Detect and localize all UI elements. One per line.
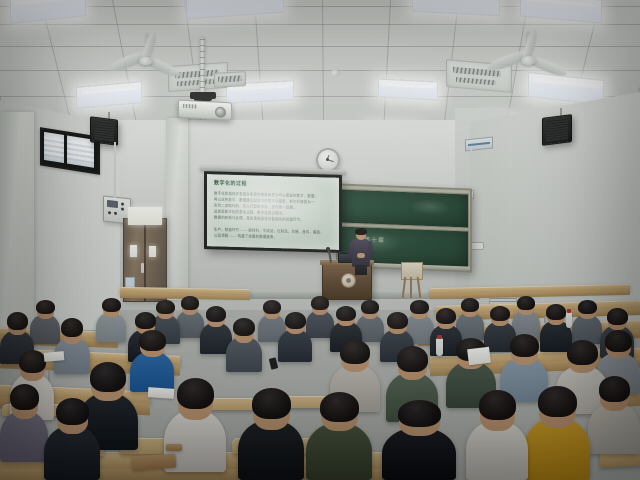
person-hair <box>177 378 214 409</box>
student <box>238 388 304 480</box>
person-hair <box>461 298 479 312</box>
person-hair <box>599 376 630 402</box>
person-hair <box>567 340 598 365</box>
person-hair <box>510 334 539 357</box>
person-hair <box>578 300 597 314</box>
person-hair <box>398 400 441 427</box>
person-hair <box>135 312 156 329</box>
person-hair <box>320 392 359 422</box>
water-bottle <box>436 338 443 356</box>
wooden-block-small <box>166 444 182 451</box>
water-bottle <box>566 312 572 328</box>
student <box>278 312 312 362</box>
person-hair <box>285 312 306 329</box>
person-hair <box>206 306 226 322</box>
person-hair <box>252 388 291 419</box>
person-hair <box>340 340 370 364</box>
person-hair <box>19 350 46 373</box>
person-hair <box>181 296 199 310</box>
person-hair <box>336 306 356 321</box>
open-notebook <box>467 347 491 366</box>
person-hair <box>61 318 83 337</box>
person-hair <box>56 398 89 425</box>
paper-sheet <box>44 351 65 362</box>
person-hair <box>102 298 121 312</box>
person-hair <box>139 330 166 351</box>
person-hair <box>436 308 456 324</box>
person-hair <box>10 384 39 410</box>
person-hair <box>605 330 632 352</box>
person-hair <box>36 300 55 314</box>
person-hair <box>361 300 379 314</box>
person-hair <box>517 296 535 310</box>
person-hair <box>538 386 577 417</box>
student <box>44 398 100 480</box>
person-hair <box>607 308 628 325</box>
open-notebook <box>148 387 175 399</box>
student <box>96 298 126 342</box>
person-hair <box>7 312 28 330</box>
person-hair <box>490 306 510 321</box>
student <box>226 318 262 372</box>
person-hair <box>546 304 566 320</box>
person-hair <box>387 312 408 329</box>
lecture-hall-photo: 第十章 数字化的过程 数字化是指将许多复杂多变的信息转变为可以度量的数字、数据，… <box>0 0 640 480</box>
person-hair <box>479 390 516 420</box>
person-hair <box>397 346 428 372</box>
person-hair <box>90 362 126 392</box>
student <box>306 392 372 480</box>
person-hair <box>311 296 329 310</box>
student <box>512 296 540 338</box>
audience <box>0 0 640 480</box>
student <box>466 390 528 480</box>
student <box>382 400 456 480</box>
student <box>0 384 48 462</box>
student <box>524 386 590 480</box>
student <box>588 376 640 454</box>
person-hair <box>233 318 255 336</box>
